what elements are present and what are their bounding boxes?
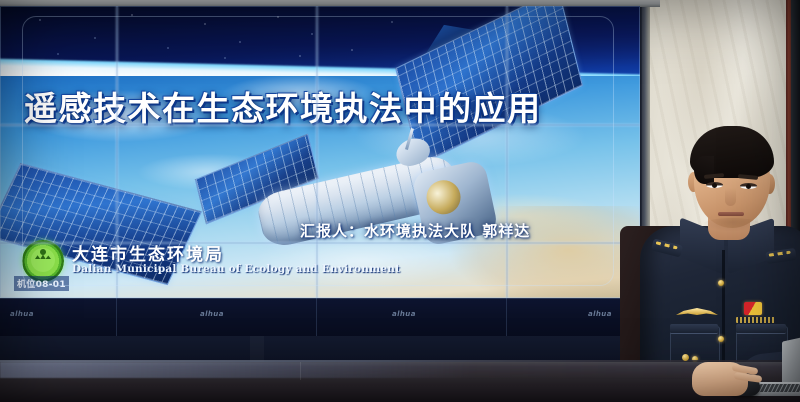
brand-watermark: alhua <box>392 310 416 318</box>
table-panel-seam <box>300 362 301 380</box>
uniform-button <box>718 280 724 286</box>
presenter-person <box>636 130 800 380</box>
organization-lockup: 大连市生态环境局 Dalian Municipal Bureau of Ecol… <box>22 240 400 282</box>
laptop-screen[interactable] <box>782 334 800 387</box>
panel-bezel-horizontal <box>0 124 640 126</box>
video-wall[interactable]: 遥感技术在生态环境执法中的应用 汇报人：水环境执法大队 郭祥达 大连市生态环境局… <box>0 6 640 336</box>
panel-bezel-vertical <box>316 6 318 298</box>
nose <box>725 188 736 206</box>
cuff-button <box>682 354 689 361</box>
organization-name-cn: 大连市生态环境局 <box>72 247 400 265</box>
brand-watermark: alhua <box>200 310 224 318</box>
hand-device-group <box>636 352 800 402</box>
emblem-badge-icon <box>744 302 762 315</box>
panel-bezel-horizontal <box>0 298 640 299</box>
eye-left <box>706 182 723 188</box>
brand-watermark: alhua <box>10 310 34 318</box>
video-wall-screen[interactable]: 遥感技术在生态环境执法中的应用 汇报人：水环境执法大队 郭祥达 大连市生态环境局… <box>0 6 640 298</box>
brand-watermark: alhua <box>588 310 612 318</box>
panel-bezel-vertical <box>506 6 508 298</box>
uniform-button <box>718 336 724 342</box>
slide-subtitle: 汇报人：水环境执法大队 郭祥达 <box>300 220 530 241</box>
slide-title: 遥感技术在生态环境执法中的应用 <box>24 82 624 130</box>
camera-position-tag: 机位08-01 <box>14 276 69 291</box>
badge-caption-text <box>736 317 776 323</box>
pocket-flap-left <box>670 324 718 334</box>
laptop-keyboard[interactable] <box>756 384 800 392</box>
panel-bezel-horizontal <box>0 242 640 244</box>
emblem-sun-dot <box>40 249 46 255</box>
mouth <box>718 212 744 216</box>
eye-right <box>740 183 757 189</box>
organization-text: 大连市生态环境局 Dalian Municipal Bureau of Ecol… <box>72 247 400 276</box>
hair <box>690 126 774 178</box>
conference-room-scene: 遥感技术在生态环境执法中的应用 汇报人：水环境执法大队 郭祥达 大连市生态环境局… <box>0 0 800 402</box>
chin-shading <box>702 218 762 232</box>
organization-name-en: Dalian Municipal Bureau of Ecology and E… <box>72 264 400 275</box>
panel-bezel-vertical <box>116 6 118 298</box>
pocket-flap-right <box>736 324 786 334</box>
